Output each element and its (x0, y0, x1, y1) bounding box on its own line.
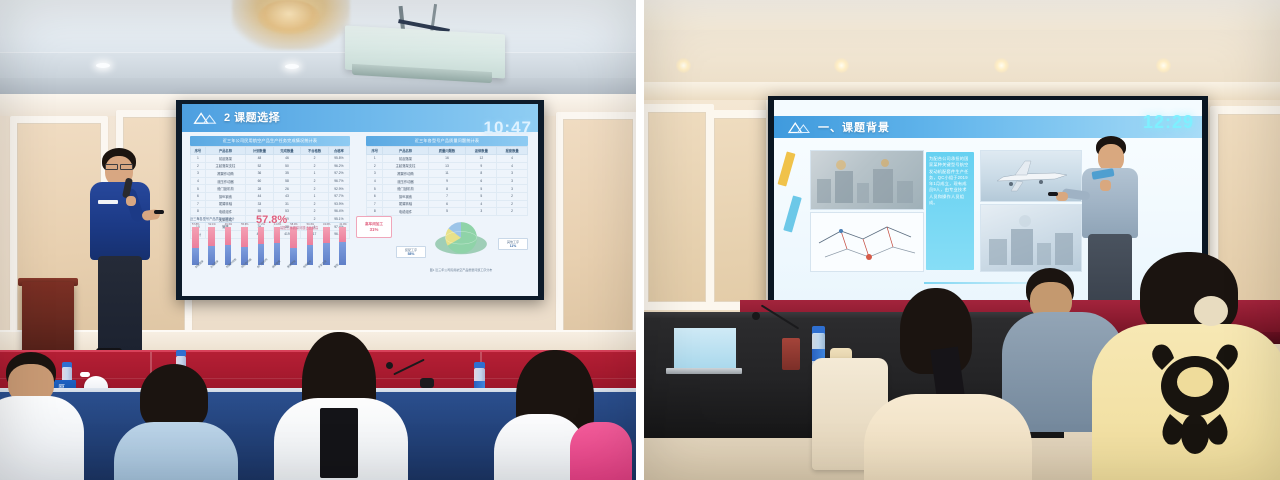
table-cell: 8 (466, 170, 497, 178)
chart-highlight-note: 装配工序质量问题占比最高 (280, 226, 328, 230)
table-cell: 44 (246, 192, 274, 200)
table-row: 2主起落架支柱1394 (367, 162, 528, 170)
table-cell: 26 (273, 185, 301, 193)
table-cell: 46 (273, 155, 301, 163)
left-slide: 2 课题选择 10:47 近三年公司民用航空产品生产任务完成情况统计表 序号产品… (182, 104, 538, 296)
table-cell: 31 (273, 200, 301, 208)
table-row: 1前起落架16124 (367, 155, 528, 163)
left-presenter (78, 148, 164, 376)
bar-column: 49.3% (225, 223, 232, 265)
bar-segment-top (192, 227, 199, 248)
downlight-icon (285, 64, 299, 69)
bar-segment-top (241, 227, 248, 248)
mountain-logo-icon (192, 110, 218, 126)
presenter-hand-right (1100, 180, 1111, 191)
callout-value: 31% (370, 227, 379, 232)
table-cell: 4 (367, 177, 383, 185)
table-cell: 操纵钢索 (383, 192, 428, 200)
microphone-base (782, 338, 800, 370)
table-row: 7尾翼转轴3331293.9% (191, 200, 350, 208)
table-cell: 2 (301, 155, 329, 163)
table-cell: 97.7% (328, 192, 349, 200)
ceiling-cornice-lower (0, 78, 636, 94)
collage-root: 2 课题选择 10:47 近三年公司民用航空产品生产任务完成情况统计表 序号产品… (0, 0, 1280, 480)
audience-member (276, 332, 406, 480)
wall-panel (556, 112, 636, 348)
table-cell: 2 (301, 208, 329, 216)
table-row: 2主起落架支柱5250296.2% (191, 162, 350, 170)
table-cell: 97.2% (328, 170, 349, 178)
table-cell: 2 (497, 200, 528, 208)
table-header: 产品名称 (383, 147, 428, 155)
table-header: 序号 (191, 147, 206, 155)
table-row: 4液压作动器963 (367, 177, 528, 185)
table-cell: 2 (301, 200, 329, 208)
ceiling-cove (644, 0, 1280, 30)
table-header: 报废数量 (497, 147, 528, 155)
tshirt-graphic (1140, 330, 1250, 460)
table-cell: 液压作动器 (205, 177, 245, 185)
bar-segment-top (339, 227, 346, 243)
table-header: 质量问题数 (428, 147, 466, 155)
table-cell: 95.8% (328, 155, 349, 163)
table-cell: 3 (367, 170, 383, 178)
table-cell: 舱门锁机构 (383, 185, 428, 193)
table-cell: 4 (497, 155, 528, 163)
table-cell: 7 (428, 192, 466, 200)
table-header: 合格率 (328, 147, 349, 155)
audience-member (498, 350, 630, 480)
table-cell: 3 (497, 177, 528, 185)
table-cell: 11 (428, 170, 466, 178)
table-cell: 6 (367, 192, 383, 200)
table-cell: 13 (428, 162, 466, 170)
table-cell: 操纵钢索 (205, 192, 245, 200)
table-cell: 8 (428, 185, 466, 193)
slide-title: 一、课题背景 (818, 119, 890, 135)
bar-segment-top (208, 227, 215, 246)
bar-segment-top (225, 227, 232, 245)
table-header: 返修数量 (466, 147, 497, 155)
table-row: 3襟翼作动筒1183 (367, 170, 528, 178)
downlight-icon (1156, 58, 1171, 73)
hair-scrunchie (1194, 296, 1228, 326)
table-caption: 近三年公司民用航空产品生产任务完成情况统计表 (190, 136, 350, 146)
chart-highlight-value: 57.8% (256, 214, 287, 226)
table-cell: 2 (301, 162, 329, 170)
table-cell: 1 (191, 155, 206, 163)
table-cell: 液压作动器 (383, 177, 428, 185)
bar-segment-top (258, 227, 265, 245)
table-row: 5舱门锁机构2826292.9% (191, 185, 350, 193)
downlight-icon (994, 58, 1009, 73)
presenter-shirt (1082, 168, 1138, 238)
table-cell: 襟翼作动筒 (383, 170, 428, 178)
table-cell: 主起落架支柱 (205, 162, 245, 170)
table-cell: 2 (301, 185, 329, 193)
microphone-base (420, 378, 434, 388)
right-photo: 一、课题背景 12:29 (644, 0, 1280, 480)
wall-panel (644, 104, 714, 310)
table-cell: 7 (191, 200, 206, 208)
table-cell: 1 (367, 155, 383, 163)
table-cell: 2 (301, 177, 329, 185)
table-cell: 28 (246, 185, 274, 193)
presentation-clicker-icon (154, 210, 164, 214)
table-cell: 襟翼作动筒 (205, 170, 245, 178)
shirt-badge (98, 200, 118, 204)
table-cell: 52 (246, 162, 274, 170)
table-cell: 4 (191, 177, 206, 185)
slide-text-box: 为配合公司承担的国家某种关键型号航空发动机配套件生产任务，QC小组于2019年1… (926, 152, 974, 270)
table-row: 4液压作动器6058296.7% (191, 177, 350, 185)
downlight-icon (834, 58, 849, 73)
table-row: 5舱门锁机构853 (367, 185, 528, 193)
table-cell: 43 (273, 192, 301, 200)
table-cell: 3 (497, 185, 528, 193)
mountain-logo-icon (786, 120, 812, 135)
table-cell: 3 (191, 170, 206, 178)
microphone-head-icon (752, 312, 760, 320)
presenter-trousers (98, 256, 142, 354)
table-cell: 6 (191, 192, 206, 200)
table-row: 3襟翼作动筒3635197.2% (191, 170, 350, 178)
table-cell: 9 (466, 162, 497, 170)
table-cell: 5 (466, 185, 497, 193)
audience-member (118, 364, 234, 480)
table-cell: 4 (497, 162, 528, 170)
table-cell: 16 (428, 155, 466, 163)
table-cell: 7 (367, 200, 383, 208)
table-cell: 58 (273, 177, 301, 185)
table-cell: 主起落架支柱 (383, 162, 428, 170)
table-caption: 近三年各型号产品质量问题统计表 (366, 136, 528, 146)
slide-title: 2 课题选择 (224, 109, 280, 125)
slide-body-text: 为配合公司承担的国家某种关键型号航空发动机配套件生产任务，QC小组于2019年1… (926, 152, 974, 210)
table-cell: 尾翼转轴 (205, 200, 245, 208)
table-row: 7尾翼转轴642 (367, 200, 528, 208)
downlight-icon (676, 58, 691, 73)
table-header: 计划数量 (246, 147, 274, 155)
presentation-clicker-icon (1048, 192, 1058, 196)
table-cell: 8 (367, 208, 383, 216)
table-cell: 96.4% (328, 208, 349, 216)
bar-segment-bottom (339, 242, 346, 265)
countdown-timer: 12:29 (1143, 112, 1194, 133)
audience-member (870, 288, 1026, 480)
pie-callout-right: 其他工序 11% (498, 238, 528, 250)
table-cell: 36 (246, 170, 274, 178)
table-cell: 1 (301, 192, 329, 200)
presenter-shirt (90, 182, 150, 260)
table-cell: 33 (246, 200, 274, 208)
table-cell: 5 (191, 185, 206, 193)
ceiling-soffit (644, 30, 1280, 85)
table-row: 6操纵钢索4443197.7% (191, 192, 350, 200)
table-cell: 2 (191, 162, 206, 170)
chart-footnote: 图1 近三年公司民用航空产品质量问题工序分布 (394, 268, 528, 272)
table-cell: 1 (301, 170, 329, 178)
podium (22, 282, 74, 358)
chandelier-core (258, 0, 320, 34)
bar-column: 52.1% (208, 223, 215, 265)
table-cell: 9 (428, 177, 466, 185)
left-photo: 2 课题选择 10:47 近三年公司民用航空产品生产任务完成情况统计表 序号产品… (0, 0, 636, 480)
countdown-timer: 10:47 (484, 118, 532, 138)
table-cell: 2 (367, 162, 383, 170)
table-cell: 5 (466, 192, 497, 200)
presenter-hand-left (126, 196, 136, 206)
data-table-2: 序号产品名称质量问题数返修数量报废数量 1前起落架161242主起落架支柱139… (366, 146, 528, 216)
collage-divider (636, 0, 644, 480)
pie-chart: 装配工序 58% 其他工序 11% 图1 近三年公司民用航空产品质量问题工序分布 (394, 208, 528, 290)
table-cell: 50 (273, 162, 301, 170)
table-cell: 93.9% (328, 200, 349, 208)
table-cell: 电缆组件 (205, 208, 245, 216)
table-header: 序号 (367, 147, 383, 155)
bar-column: 57.8% (192, 223, 199, 265)
table-cell: 舱门锁机构 (205, 185, 245, 193)
engine-assembly-photo (980, 204, 1082, 272)
audience-member (0, 352, 82, 480)
table-cell: 6 (466, 177, 497, 185)
table-cell: 6 (428, 200, 466, 208)
callout-box: 高车间加工 31% (356, 216, 392, 238)
table-cell: 48 (246, 155, 274, 163)
laptop-screen[interactable] (672, 326, 738, 372)
table-header: 产品名称 (205, 147, 245, 155)
table-header: 不合格数 (301, 147, 329, 155)
table-cell: 前起落架 (205, 155, 245, 163)
bar-column: 41.9% (339, 223, 346, 265)
laptop-base (666, 368, 742, 374)
glasses-icon (105, 164, 133, 168)
pipeline-schematic-diagram (810, 212, 924, 272)
pie-callout-left: 装配工序 58% (396, 246, 426, 258)
table-cell: 3 (497, 170, 528, 178)
table-cell: 92.9% (328, 185, 349, 193)
table-cell: 8 (191, 208, 206, 216)
table-cell: 35 (273, 170, 301, 178)
table-cell: 12 (466, 155, 497, 163)
table-cell: 5 (367, 185, 383, 193)
audience-member (1096, 252, 1280, 480)
table-cell: 96.7% (328, 177, 349, 185)
factory-workshop-photo (810, 150, 924, 210)
table-row: 6操纵钢索752 (367, 192, 528, 200)
table-cell: 4 (466, 200, 497, 208)
table-header: 完成数量 (273, 147, 301, 155)
table-cell: 尾翼转轴 (383, 200, 428, 208)
table-cell: 前起落架 (383, 155, 428, 163)
table-row: 1前起落架4846295.8% (191, 155, 350, 163)
table-cell: 60 (246, 177, 274, 185)
table-cell: 96.2% (328, 162, 349, 170)
downlight-icon (96, 63, 110, 68)
table-cell: 2 (497, 192, 528, 200)
